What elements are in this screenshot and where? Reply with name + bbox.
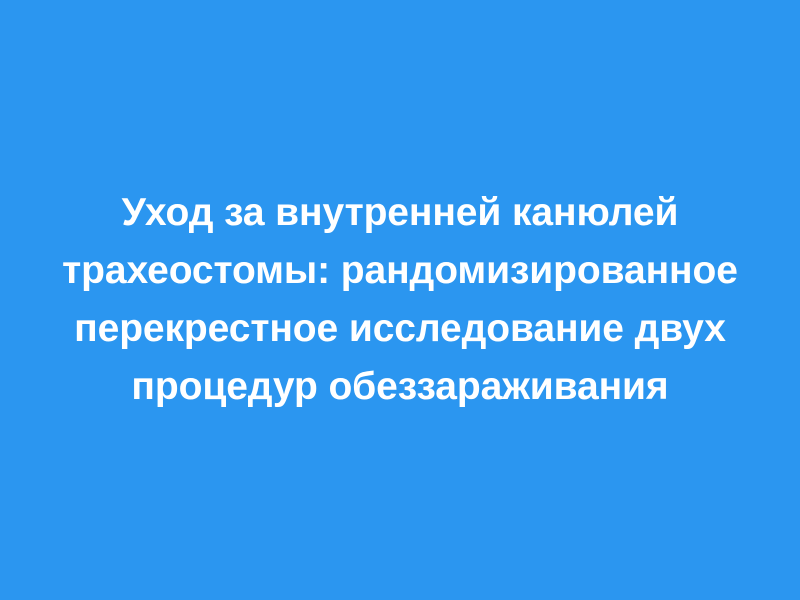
title-line-2: трахеостомы: рандомизированное: [30, 242, 770, 300]
title-card: Уход за внутренней канюлей трахеостомы: …: [0, 0, 800, 600]
title-line-3: перекрестное исследование двух: [30, 300, 770, 358]
title-line-4: процедур обеззараживания: [30, 358, 770, 416]
page-title: Уход за внутренней канюлей трахеостомы: …: [30, 184, 770, 416]
title-line-1: Уход за внутренней канюлей: [30, 184, 770, 242]
